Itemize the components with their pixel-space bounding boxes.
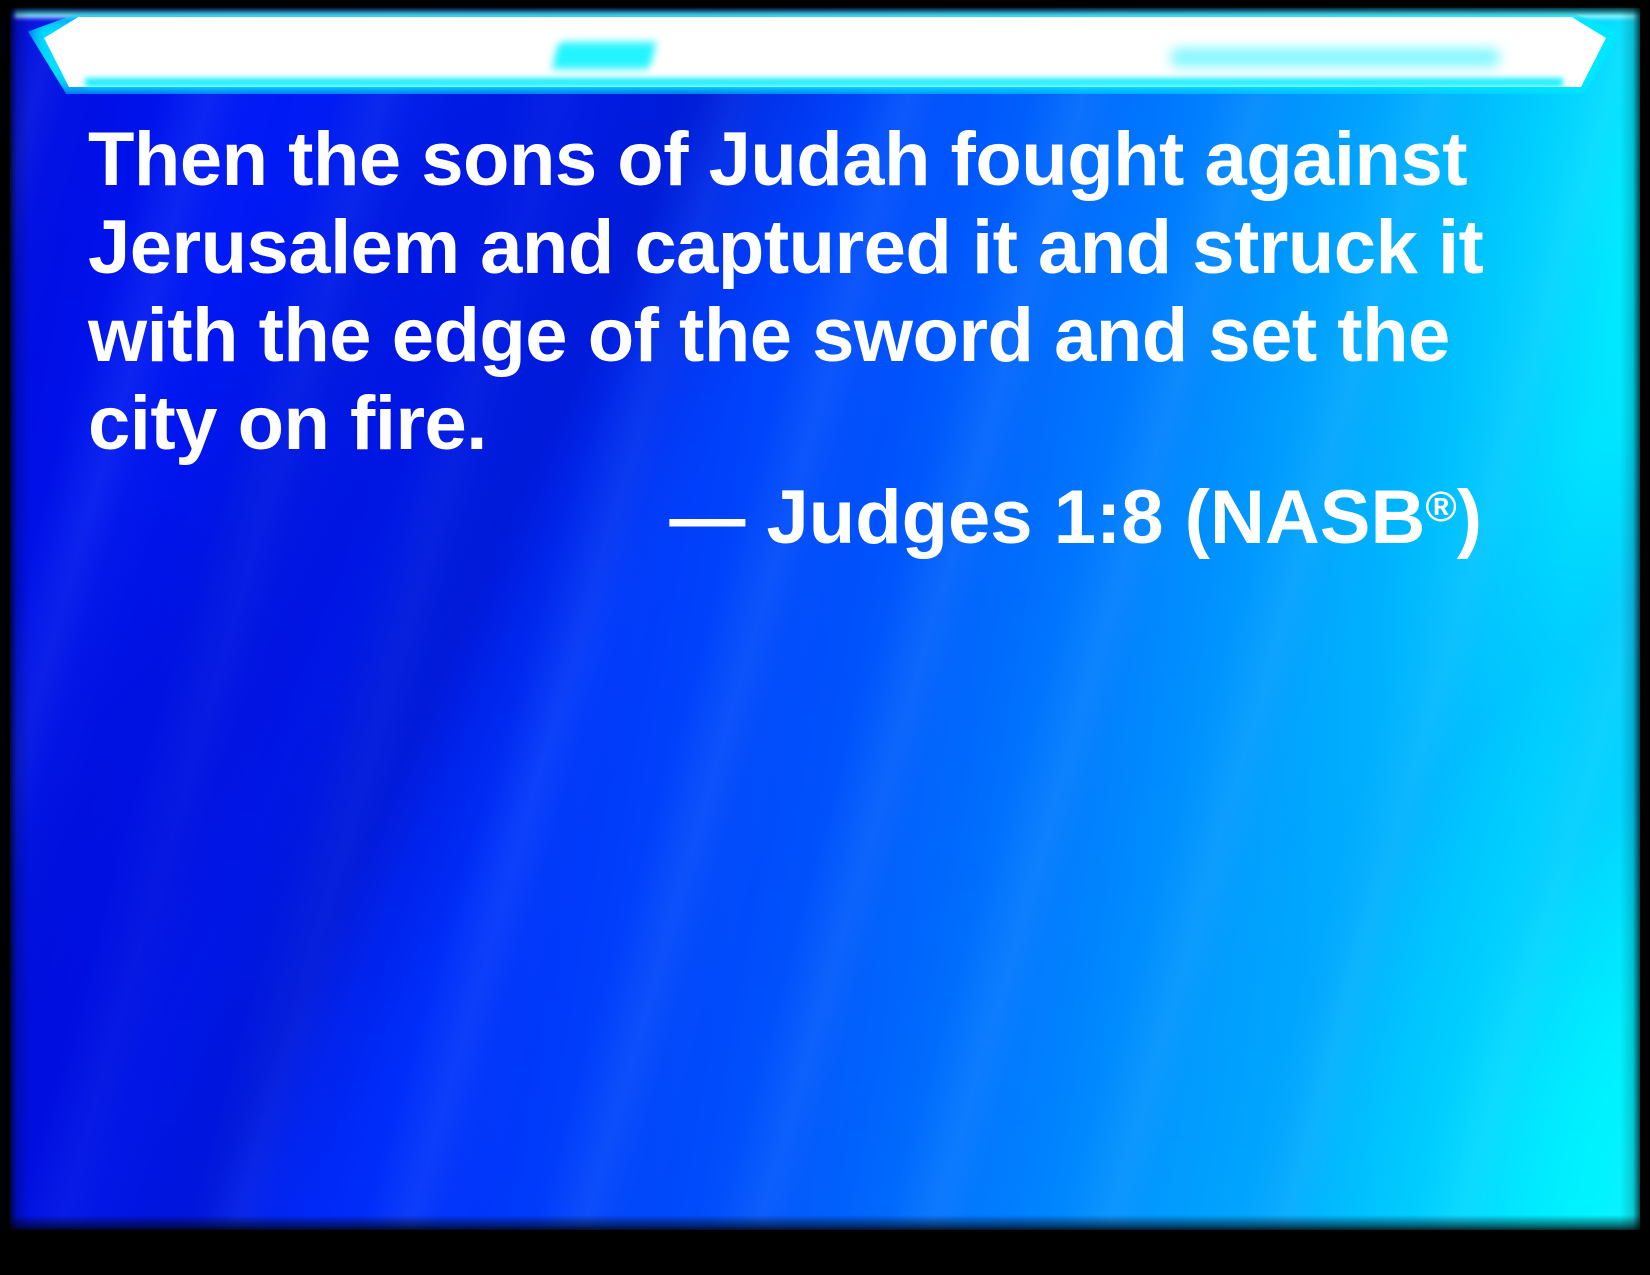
verse-slide: Then the sons of Judah fought against Je… — [0, 0, 1650, 1275]
slide-black-frame — [0, 0, 1650, 1275]
